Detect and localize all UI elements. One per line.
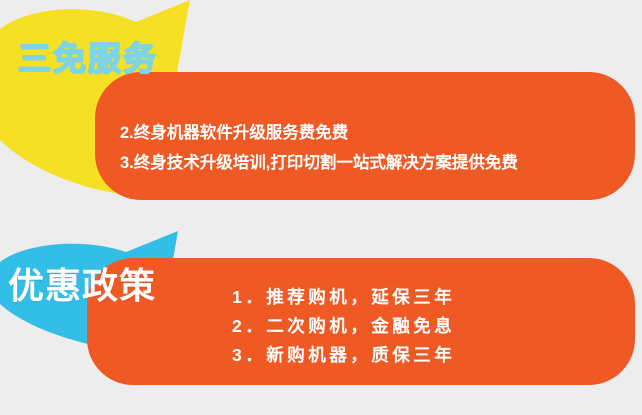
bottom-policy-list: 1．推荐购机，延保三年 2．二次购机，金融免息 3．新购机器，质保三年 (232, 283, 455, 370)
section-title-youhui-zhengce: 优惠政策 (8, 268, 156, 304)
top-benefit-line-2: 2.终身机器软件升级服务费免费 (120, 118, 518, 148)
top-benefit-list: 2.终身机器软件升级服务费免费 3.终身技术升级培训,打印切割一站式解决方案提供… (120, 118, 518, 178)
top-benefit-line-3: 3.终身技术升级培训,打印切割一站式解决方案提供免费 (120, 148, 518, 178)
bottom-policy-line-3: 3．新购机器，质保三年 (232, 341, 455, 370)
section-title-san-mian-fuwu: 三免服务 (18, 42, 158, 75)
bottom-policy-line-1: 1．推荐购机，延保三年 (232, 283, 455, 312)
poster-canvas: 三免服务 2.终身机器软件升级服务费免费 3.终身技术升级培训,打印切割一站式解… (0, 0, 642, 415)
bottom-policy-line-2: 2．二次购机，金融免息 (232, 312, 455, 341)
